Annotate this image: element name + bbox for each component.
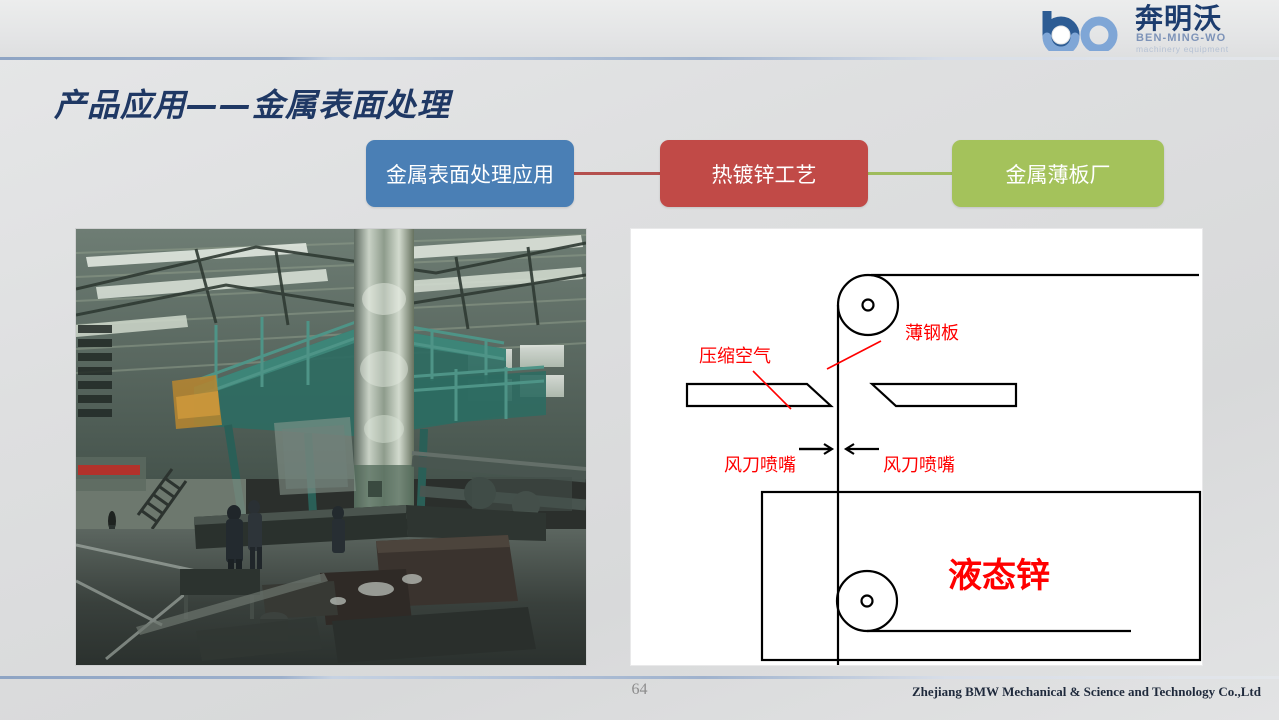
top-roller-hub — [863, 300, 874, 311]
steel-strip-leader — [827, 341, 881, 369]
label-air-knife-left: 风刀喷嘴 — [724, 455, 796, 476]
bottom-roller-hub — [862, 596, 873, 607]
company-logo: 奔明沃 BEN-MING-WO machinery equipment — [1039, 5, 1267, 55]
air-jet-arrow-right — [846, 444, 879, 454]
corporate-footer: Zhejiang BMW Mechanical & Science and Te… — [912, 684, 1261, 700]
galvanizing-schematic: 压缩空气 薄钢板 风刀喷嘴 风刀喷嘴 液态锌 — [631, 229, 1202, 665]
label-molten-zinc: 液态锌 — [948, 556, 1050, 596]
logo-tagline: machinery equipment — [1136, 44, 1229, 54]
page-title: 产品应用——金属表面处理 — [54, 80, 450, 126]
bo-monogram-icon — [1039, 7, 1131, 51]
air-jet-arrow-left — [799, 444, 832, 454]
label-compressed-air: 压缩空气 — [699, 346, 771, 367]
label-steel-strip: 薄钢板 — [905, 323, 959, 344]
flow-box-metal-surface-treatment[interactable]: 金属表面处理应用 — [366, 140, 574, 207]
flow-box-hot-dip-galvanizing[interactable]: 热镀锌工艺 — [660, 140, 868, 207]
top-roller — [838, 275, 898, 335]
logo-chinese-name: 奔明沃 — [1135, 4, 1222, 34]
footer-divider-rule — [0, 676, 1279, 679]
air-knife-nozzle-right — [872, 384, 1016, 406]
factory-photo — [76, 229, 586, 665]
slide-canvas: 奔明沃 BEN-MING-WO machinery equipment 产品应用… — [0, 0, 1279, 720]
flow-box-sheet-metal-plant[interactable]: 金属薄板厂 — [952, 140, 1164, 207]
bottom-roller — [837, 571, 897, 631]
header-divider-rule — [0, 57, 1279, 60]
flow-connector-1 — [574, 172, 661, 175]
logo-pinyin: BEN-MING-WO — [1136, 32, 1226, 44]
air-knife-nozzle-left — [687, 384, 831, 406]
flow-connector-2 — [867, 172, 953, 175]
label-air-knife-right: 风刀喷嘴 — [883, 455, 955, 476]
